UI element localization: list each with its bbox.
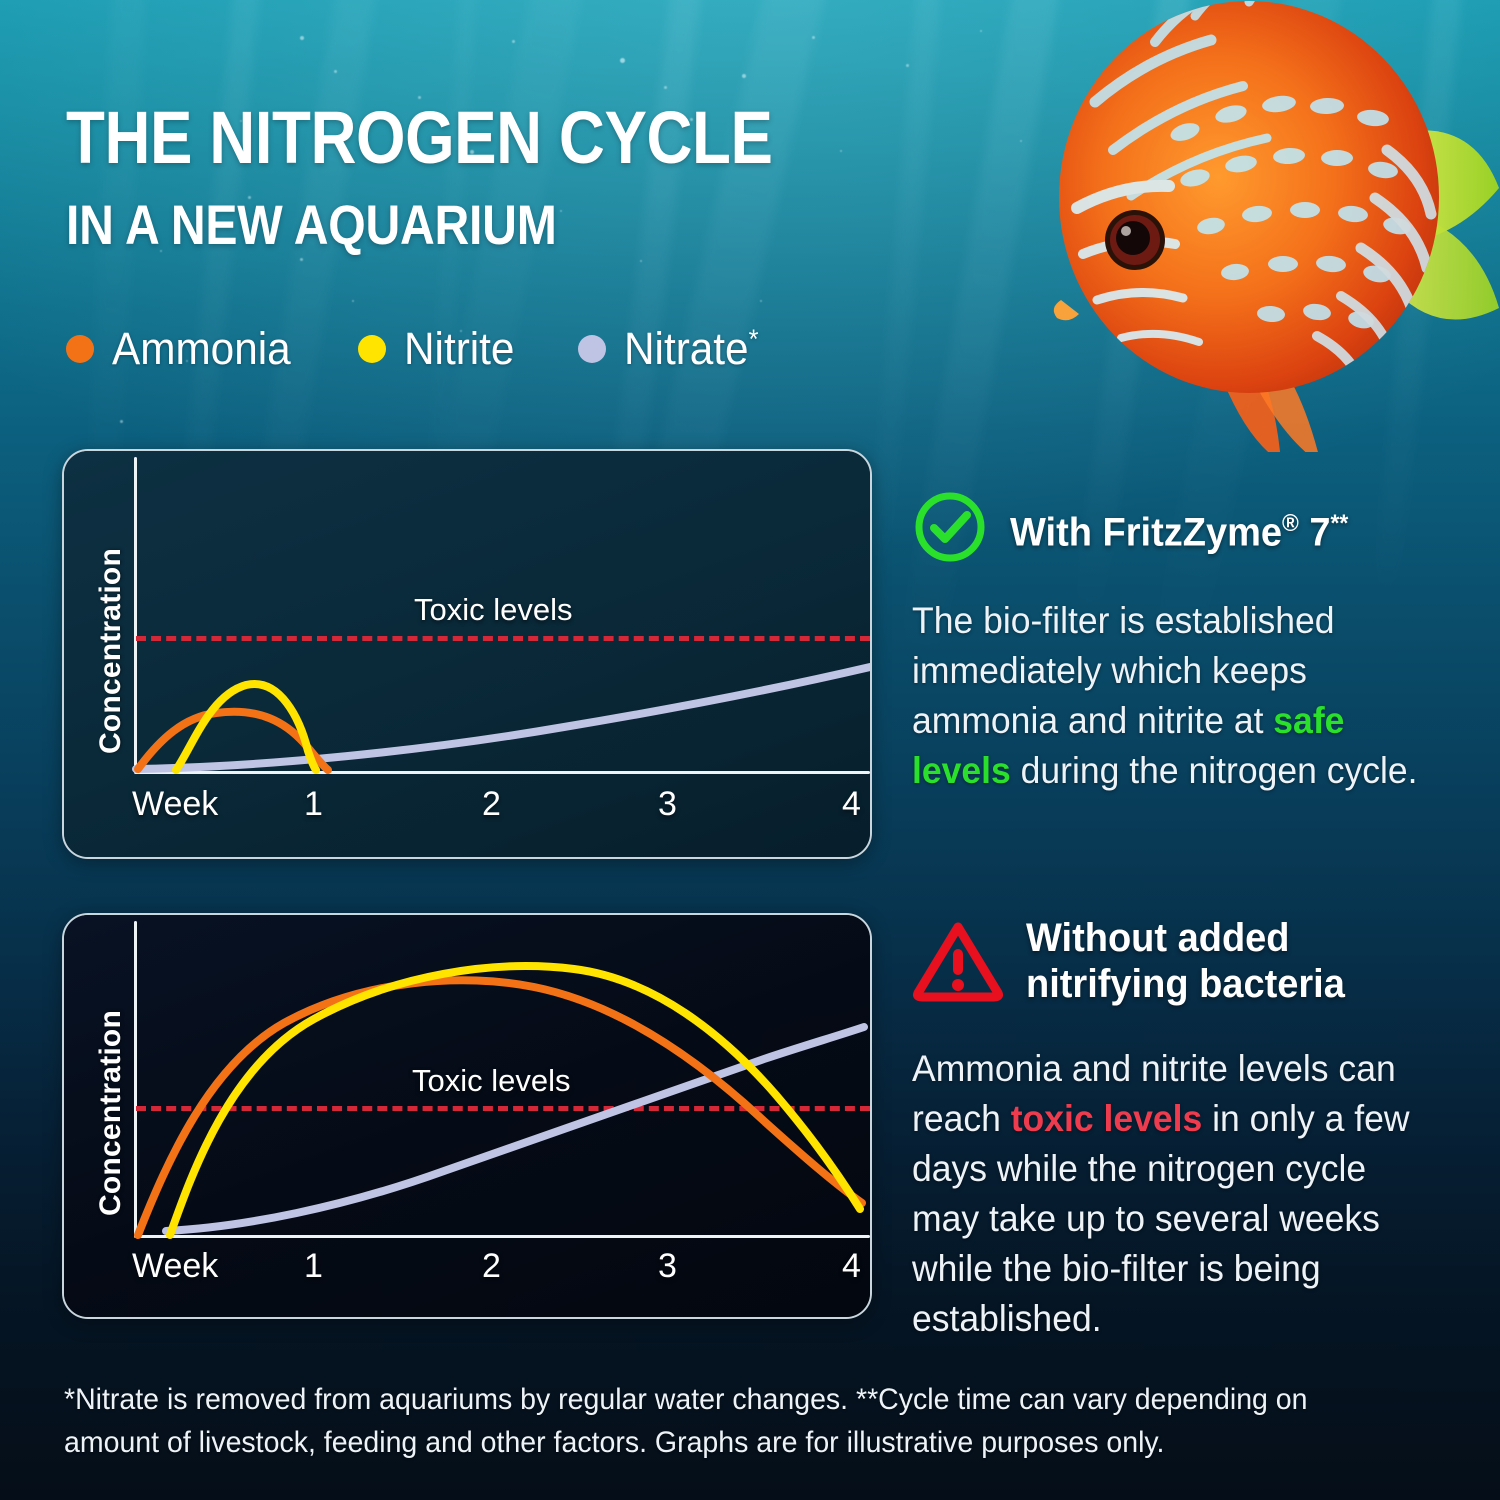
legend-label-nitrite: Nitrite [404, 323, 514, 375]
legend-dot-nitrite-icon [358, 335, 386, 363]
legend-label-nitrate: Nitrate* [624, 323, 758, 375]
chart2-nitrite-curve [170, 966, 860, 1235]
page-title: THE NITROGEN CYCLE [66, 100, 772, 176]
infographic-root: THE NITROGEN CYCLE IN A NEW AQUARIUM Amm… [0, 0, 1500, 1500]
legend-dot-nitrate-icon [578, 335, 606, 363]
footnote: *Nitrate is removed from aquariums by re… [64, 1378, 1375, 1464]
toxic-levels-highlight: toxic levels [1011, 1098, 1203, 1139]
chart2-xtick-week: Week [132, 1247, 218, 1286]
callout2-body: Ammonia and nitrite levels can reach tox… [912, 1044, 1435, 1344]
callout-without-bacteria: Without added nitrifying bacteria Ammoni… [912, 915, 1457, 1344]
chart2-xtick-1: 1 [304, 1247, 323, 1286]
legend-item-nitrate: Nitrate* [578, 323, 767, 375]
check-circle-icon [912, 489, 988, 570]
chart1-xtick-2: 2 [482, 785, 501, 824]
callout2-title: Without added nitrifying bacteria [1026, 915, 1345, 1007]
warning-triangle-icon [912, 919, 1004, 1008]
callout2-title-line1: Without added [1026, 916, 1290, 960]
registered-mark-icon: ® [1282, 510, 1299, 537]
chart1-xtick-3: 3 [658, 785, 677, 824]
legend-item-nitrite: Nitrite [358, 323, 522, 375]
chart1-xtick-4: 4 [842, 785, 861, 824]
chart2-xtick-3: 3 [658, 1247, 677, 1286]
legend-item-ammonia: Ammonia [66, 323, 302, 375]
callout1-title: With FritzZyme® 7** [1010, 489, 1348, 555]
callout2-title-line2: nitrifying bacteria [1026, 962, 1345, 1006]
legend-label-ammonia: Ammonia [112, 323, 291, 375]
chart2-xtick-2: 2 [482, 1247, 501, 1286]
callout-with-fritzzyme: With FritzZyme® 7** The bio-filter is es… [912, 489, 1452, 796]
chart2-xtick-4: 4 [842, 1247, 861, 1286]
chart2-ammonia-curve [138, 980, 862, 1235]
chart-panel-without-bacteria: Concentration Toxic levels Week 1 2 3 4 [62, 913, 872, 1319]
legend-nitrate-asterisk: * [748, 324, 758, 354]
chart-panel-with-fritzzyme: Concentration Toxic levels Week 1 2 3 4 [62, 449, 872, 859]
discus-fish-image [1035, 0, 1500, 452]
page-subtitle: IN A NEW AQUARIUM [66, 196, 557, 254]
chart1-xtick-1: 1 [304, 785, 323, 824]
legend: Ammonia Nitrite Nitrate* [66, 323, 823, 375]
legend-dot-ammonia-icon [66, 335, 94, 363]
chart1-xtick-week: Week [132, 785, 218, 824]
chart2-nitrate-curve [166, 1027, 864, 1231]
callout1-body: The bio-filter is established immediatel… [912, 596, 1430, 796]
callout1-title-footnote-mark: ** [1330, 510, 1348, 537]
